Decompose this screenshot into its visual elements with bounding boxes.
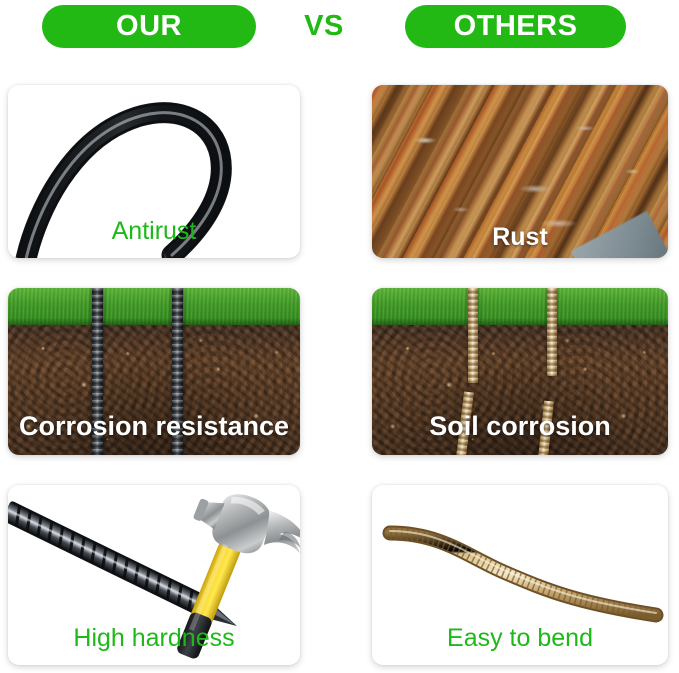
card-others-soil-art — [372, 288, 668, 455]
card-others-soil-corrosion: Soil corrosion — [372, 288, 668, 455]
card-others-bend-art — [372, 485, 668, 665]
card-others-easy-to-bend: Easy to bend — [372, 485, 668, 665]
card-ours-antirust: Antirust — [8, 85, 300, 258]
black-stake-left — [92, 288, 103, 455]
card-others-rust-art — [372, 85, 668, 258]
card-others-rust: Rust — [372, 85, 668, 258]
card-ours-corrosion-resistance: Corrosion resistance — [8, 288, 300, 455]
corroded-stake-left-upper — [468, 288, 478, 383]
card-ours-antirust-art — [8, 85, 300, 258]
vs-label: VS — [296, 5, 352, 48]
card-ours-hardness-art — [8, 485, 300, 665]
soil-layer — [372, 325, 668, 455]
others-pill-label: OTHERS — [405, 5, 626, 48]
card-ours-corrosion-art — [8, 288, 300, 455]
claw-hammer-icon — [156, 489, 300, 665]
grass-layer — [8, 288, 300, 325]
comparison-header: OUR VS OTHERS — [0, 0, 679, 58]
our-pill-label: OUR — [42, 5, 256, 48]
bent-rebar-rod-icon — [372, 485, 668, 665]
rebar-loop-icon — [12, 87, 300, 258]
grass-layer — [372, 288, 668, 325]
corroded-stake-right-upper — [547, 288, 557, 376]
card-ours-high-hardness: High hardness — [8, 485, 300, 665]
black-stake-right — [172, 288, 183, 455]
soil-layer — [8, 325, 300, 455]
